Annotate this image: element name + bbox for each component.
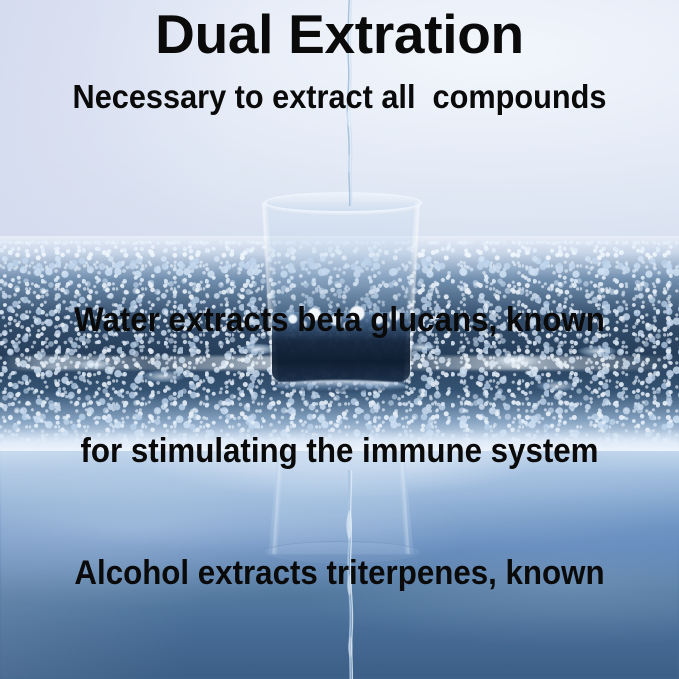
poster-canvas: Dual Extration Necessary to extract all … bbox=[0, 0, 679, 679]
glass-rim bbox=[264, 192, 422, 213]
water-extraction-line-1: Water extracts beta glucans, known bbox=[27, 299, 652, 343]
page-subtitle: Necessary to extract all compounds bbox=[24, 80, 655, 113]
page-title: Dual Extration bbox=[0, 7, 679, 62]
alcohol-extraction-text: Alcohol extracts triterpenes, known for … bbox=[27, 465, 652, 679]
alcohol-extraction-line-1: Alcohol extracts triterpenes, known bbox=[27, 552, 652, 596]
